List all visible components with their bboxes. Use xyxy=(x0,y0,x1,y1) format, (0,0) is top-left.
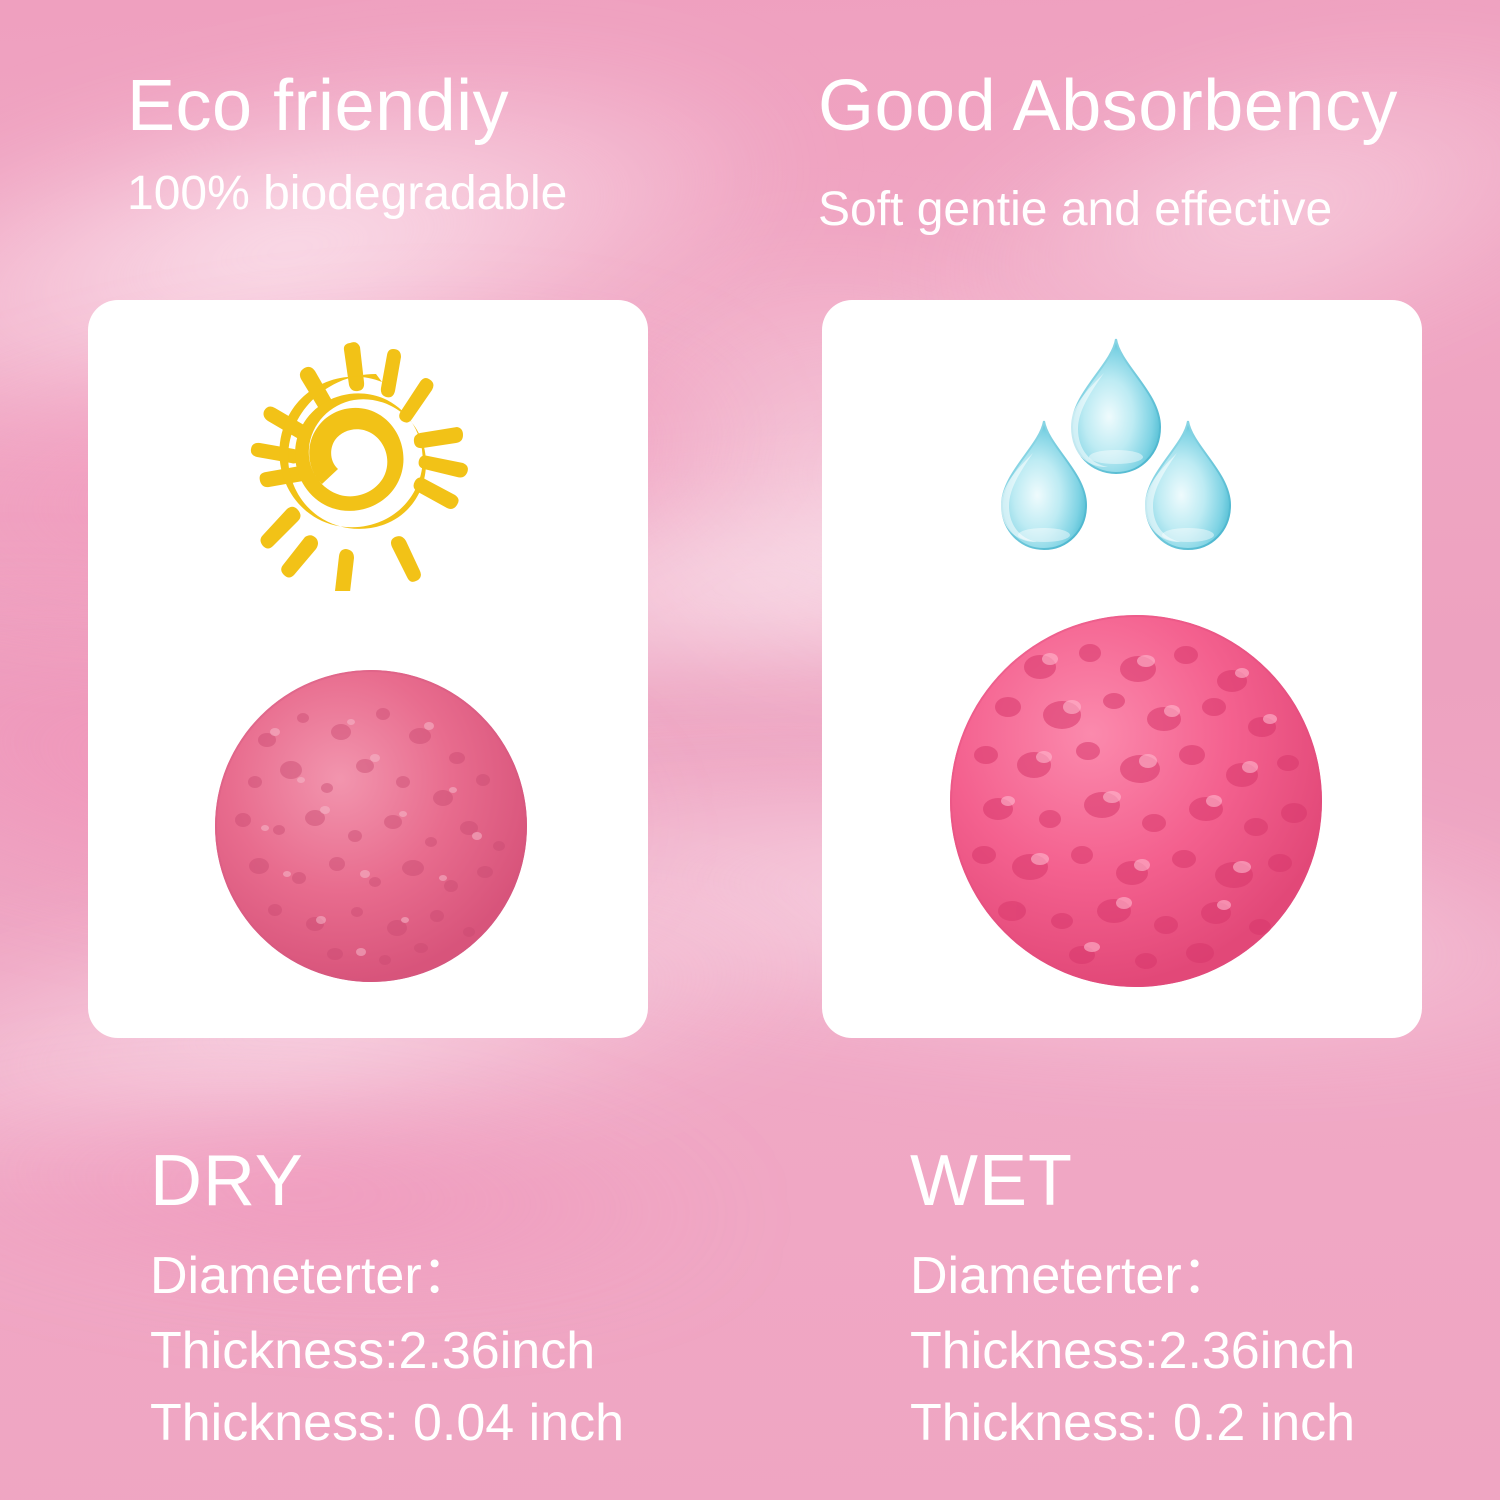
dry-label: DRY xyxy=(150,1145,304,1217)
panel-subheading-wet: Soft gentie and effective xyxy=(818,186,1332,234)
sponge-pore-texture xyxy=(950,615,1322,987)
wet-sponge xyxy=(950,615,1322,987)
sun-icon xyxy=(243,341,493,591)
wet-spec-diameter: Diameterter： xyxy=(910,1250,1234,1302)
panel-heading-dry: Eco friendiy xyxy=(127,70,509,142)
dry-spec-diameter: Diameterter： xyxy=(150,1250,474,1302)
wet-spec-thickness-2: Thickness: 0.2 inch xyxy=(910,1397,1355,1449)
dry-sponge xyxy=(215,670,527,982)
wet-spec-thickness-1: Thickness:2.36inch xyxy=(910,1325,1355,1377)
dry-spec-thickness-1: Thickness:2.36inch xyxy=(150,1325,595,1377)
wet-label: WET xyxy=(910,1145,1073,1217)
water-drop-icon xyxy=(982,333,1250,571)
sponge-pore-texture xyxy=(215,670,527,982)
product-infographic: Eco friendiy 100% biodegradable Good Abs… xyxy=(0,0,1500,1500)
dry-spec-thickness-2: Thickness: 0.04 inch xyxy=(150,1397,624,1449)
panel-heading-wet: Good Absorbency xyxy=(818,70,1398,142)
panel-subheading-dry: 100% biodegradable xyxy=(127,170,567,218)
